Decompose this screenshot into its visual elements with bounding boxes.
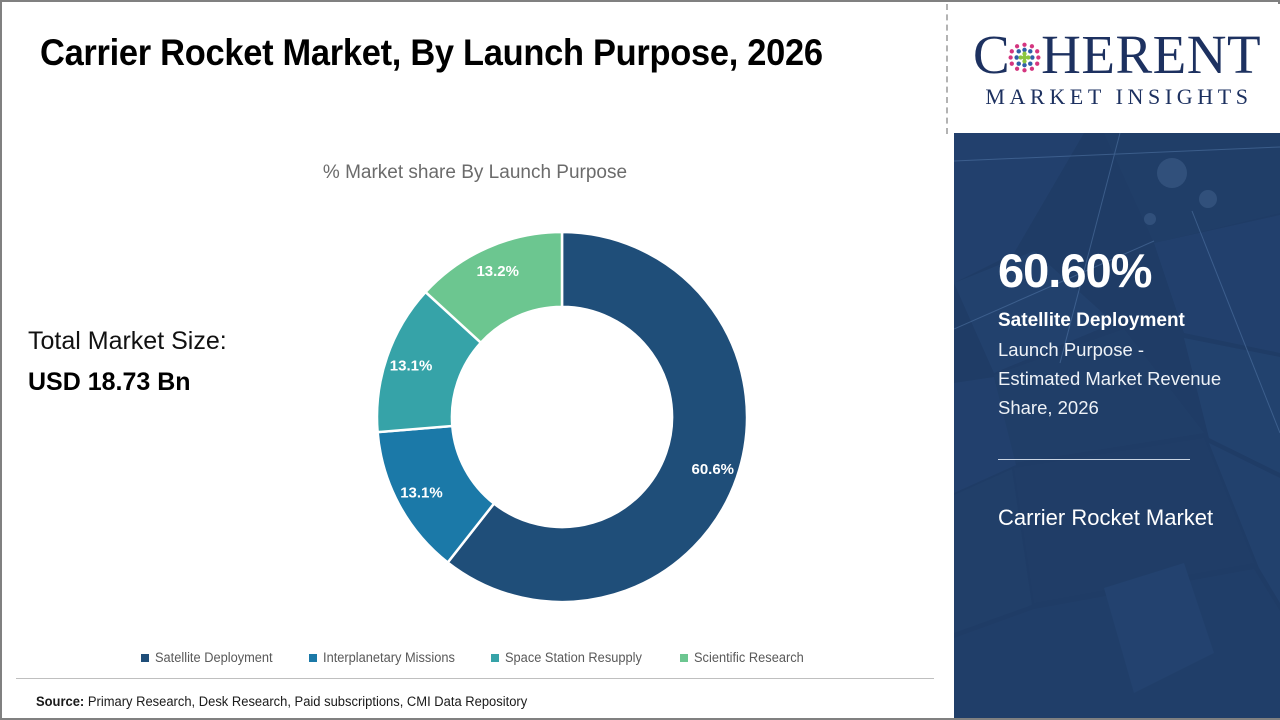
highlight-stat-value: 60.60% (998, 247, 1151, 294)
chart-subtitle: % Market share By Launch Purpose (2, 162, 948, 184)
legend-item-label: Interplanetary Missions (323, 650, 455, 665)
logo-tagline: MARKET INSIGHTS (981, 84, 1252, 110)
vertical-dashed-divider (946, 4, 948, 134)
legend-swatch-icon (680, 654, 688, 662)
panel-divider (998, 459, 1190, 460)
total-market-size-value: USD 18.73 Bn (28, 368, 191, 397)
donut-slice-label: 13.1% (390, 357, 433, 374)
brand-logo: C (954, 4, 1280, 133)
source-note: Source: Primary Research, Desk Research,… (36, 694, 527, 709)
globe-icon (1008, 41, 1041, 74)
donut-chart: 60.6%13.1%13.1%13.2% (374, 229, 750, 605)
legend-item[interactable]: Space Station Resupply (491, 650, 649, 665)
donut-slices (377, 232, 747, 602)
legend-item-label: Satellite Deployment (155, 650, 273, 665)
panel-market-name: Carrier Rocket Market (998, 496, 1218, 540)
highlight-panel: 60.60% Satellite Deployment Launch Purpo… (954, 133, 1280, 718)
source-label: Source: (36, 694, 84, 709)
donut-slice-label: 60.6% (691, 461, 734, 478)
donut-slice-label: 13.2% (476, 263, 519, 280)
source-text: Primary Research, Desk Research, Paid su… (84, 694, 527, 709)
donut-chart-svg: 60.6%13.1%13.1%13.2% (374, 229, 750, 605)
chart-panel: Carrier Rocket Market, By Launch Purpose… (2, 2, 948, 718)
infographic-page: Carrier Rocket Market, By Launch Purpose… (0, 0, 1280, 720)
right-rail: C (954, 2, 1280, 718)
logo-wordmark: C (973, 27, 1261, 82)
legend-item[interactable]: Interplanetary Missions (309, 650, 462, 665)
page-title: Carrier Rocket Market, By Launch Purpose… (40, 32, 858, 74)
legend-item-label: Space Station Resupply (505, 650, 642, 665)
highlight-stat-description: Launch Purpose - Estimated Market Revenu… (998, 336, 1223, 423)
logo-letter-c: C (973, 27, 1010, 82)
donut-slice-label: 13.1% (400, 485, 443, 502)
legend-swatch-icon (141, 654, 149, 662)
chart-legend: Satellite DeploymentInterplanetary Missi… (2, 650, 948, 665)
panel-content: 60.60% Satellite Deployment Launch Purpo… (998, 133, 1248, 718)
logo-wordmark-text: HERENT (1041, 27, 1261, 82)
legend-swatch-icon (309, 654, 317, 662)
source-divider (16, 678, 934, 679)
highlight-stat-subject: Satellite Deployment (998, 309, 1185, 333)
legend-item-label: Scientific Research (694, 650, 804, 665)
legend-swatch-icon (491, 654, 499, 662)
total-market-size-label: Total Market Size: (28, 327, 227, 356)
legend-item[interactable]: Scientific Research (680, 650, 810, 665)
legend-item[interactable]: Satellite Deployment (141, 650, 279, 665)
